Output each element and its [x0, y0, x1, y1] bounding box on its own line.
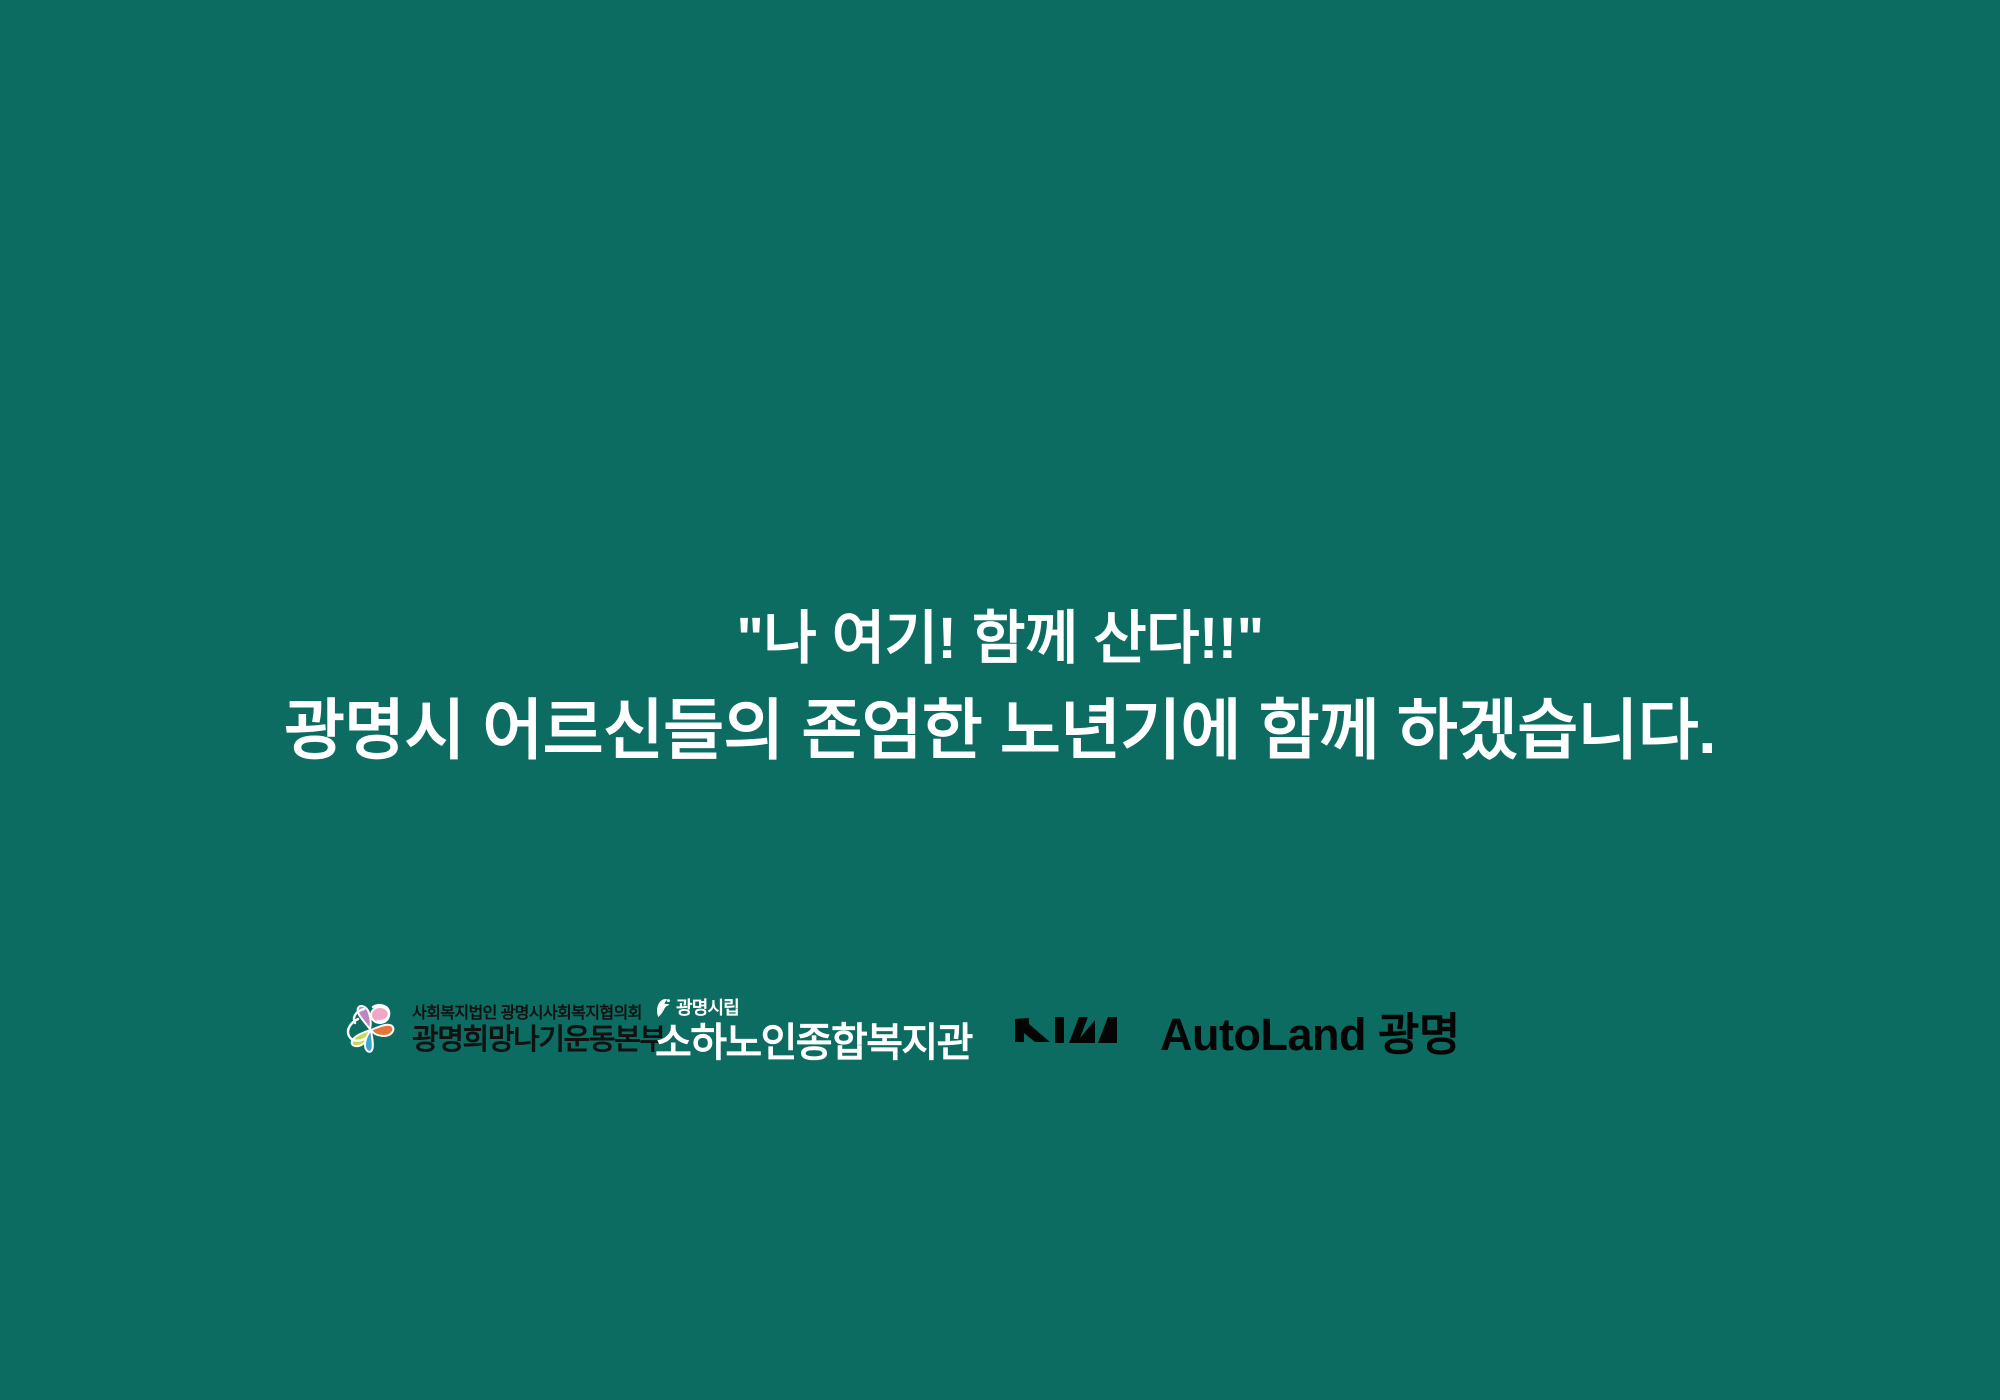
logo-gwangmyeong-hope-subtitle: 사회복지법인 광명시사회복지협의회 — [412, 1006, 665, 1022]
logo-soha-senior-center: 광명시립 소하노인종합복지관 — [655, 975, 972, 1085]
logo-soha-top-row: 광명시립 — [655, 998, 972, 1018]
kia-wordmark-icon — [1012, 1012, 1142, 1048]
slide-canvas: "나 여기! 함께 산다!!" 광명시 어르신들의 존엄한 노년기에 함께 하겠… — [0, 0, 2000, 1400]
logo-gwangmyeong-hope-title: 광명희망나기운동본부 — [412, 1026, 665, 1055]
bird-emblem-icon — [655, 998, 671, 1018]
logo-soha-subtitle: 광명시립 — [676, 999, 739, 1017]
headline-line-1: "나 여기! 함께 산다!!" — [0, 596, 2000, 682]
logo-soha-title: 소하노인종합복지관 — [655, 1023, 972, 1063]
headline-block: "나 여기! 함께 산다!!" 광명시 어르신들의 존엄한 노년기에 함께 하겠… — [0, 596, 2000, 778]
logo-gwangmyeong-hope-text: 사회복지법인 광명시사회복지협의회 광명희망나기운동본부 — [412, 1006, 665, 1055]
logo-kia-autoland: AutoLand 광명 — [1012, 975, 1460, 1085]
flower-pinwheel-icon — [340, 999, 402, 1061]
logo-soha-senior-center-text: 광명시립 소하노인종합복지관 — [655, 998, 972, 1063]
sponsor-logo-strip: 사회복지법인 광명시사회복지협의회 광명희망나기운동본부 광명시립 소하노인종합… — [340, 975, 1780, 1085]
logo-gwangmyeong-hope: 사회복지법인 광명시사회복지협의회 광명희망나기운동본부 — [340, 975, 665, 1085]
headline-line-2: 광명시 어르신들의 존엄한 노년기에 함께 하겠습니다. — [0, 682, 2000, 778]
logo-kia-autoland-label: AutoLand 광명 — [1160, 998, 1460, 1063]
